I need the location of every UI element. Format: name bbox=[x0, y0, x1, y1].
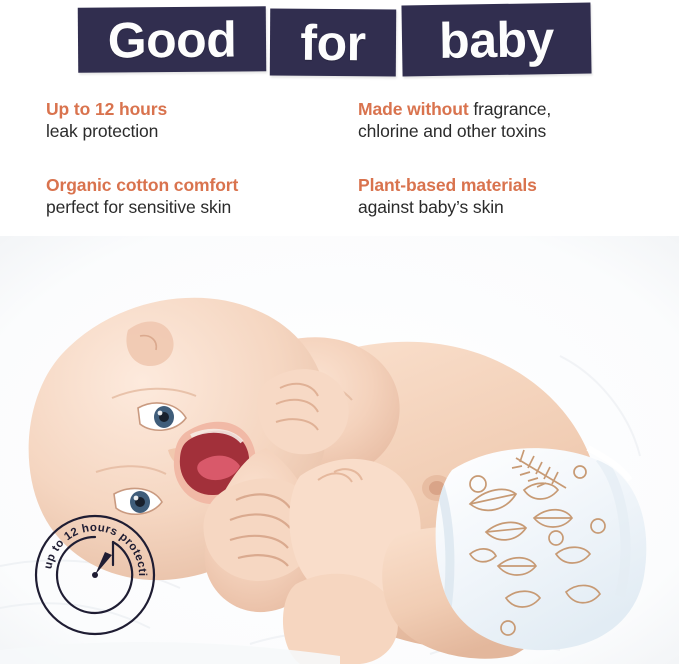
feature-item-organic-cotton: Organic cotton comfort perfect for sensi… bbox=[46, 174, 346, 219]
feature-item-made-without: Made without fragrance, chlorine and oth… bbox=[358, 98, 658, 143]
feature-headline: Up to 12 hours bbox=[46, 98, 346, 120]
headline-word-good: Good bbox=[108, 14, 237, 65]
feature-detail-text: perfect for sensitive skin bbox=[46, 196, 346, 218]
feature-headline: Made without fragrance, bbox=[358, 98, 658, 120]
feature-item-leak-protection: Up to 12 hours leak protection bbox=[46, 98, 346, 143]
feature-headline: Plant-based materials bbox=[358, 174, 658, 196]
headline-block-baby: baby bbox=[401, 3, 591, 77]
feature-inline-text: fragrance, bbox=[469, 99, 552, 119]
headline: Good for baby bbox=[0, 0, 679, 88]
feature-item-plant-based: Plant-based materials against baby’s ski… bbox=[358, 174, 658, 219]
headline-block-for: for bbox=[270, 9, 396, 77]
headline-word-baby: baby bbox=[439, 14, 554, 66]
feature-detail-text: against baby’s skin bbox=[358, 196, 658, 218]
feature-accent-text: Up to 12 hours bbox=[46, 99, 167, 119]
headline-word-for: for bbox=[300, 17, 366, 67]
feature-list: Up to 12 hours leak protection Made with… bbox=[0, 96, 679, 236]
baby-diaper bbox=[436, 448, 647, 650]
feature-accent-text: Organic cotton comfort bbox=[46, 175, 238, 195]
badge-clock-hub bbox=[92, 572, 98, 578]
feature-detail-text: chlorine and other toxins bbox=[358, 120, 658, 142]
feature-accent-text: Made without bbox=[358, 99, 469, 119]
protection-badge: up to 12 hours protection bbox=[32, 512, 158, 638]
product-feature-panel: Good for baby Up to 12 hours leak protec… bbox=[0, 0, 679, 664]
clock-icon bbox=[95, 552, 112, 575]
feature-accent-text: Plant-based materials bbox=[358, 175, 537, 195]
headline-block-good: Good bbox=[78, 6, 267, 72]
feature-detail-text: leak protection bbox=[46, 120, 346, 142]
feature-headline: Organic cotton comfort bbox=[46, 174, 346, 196]
